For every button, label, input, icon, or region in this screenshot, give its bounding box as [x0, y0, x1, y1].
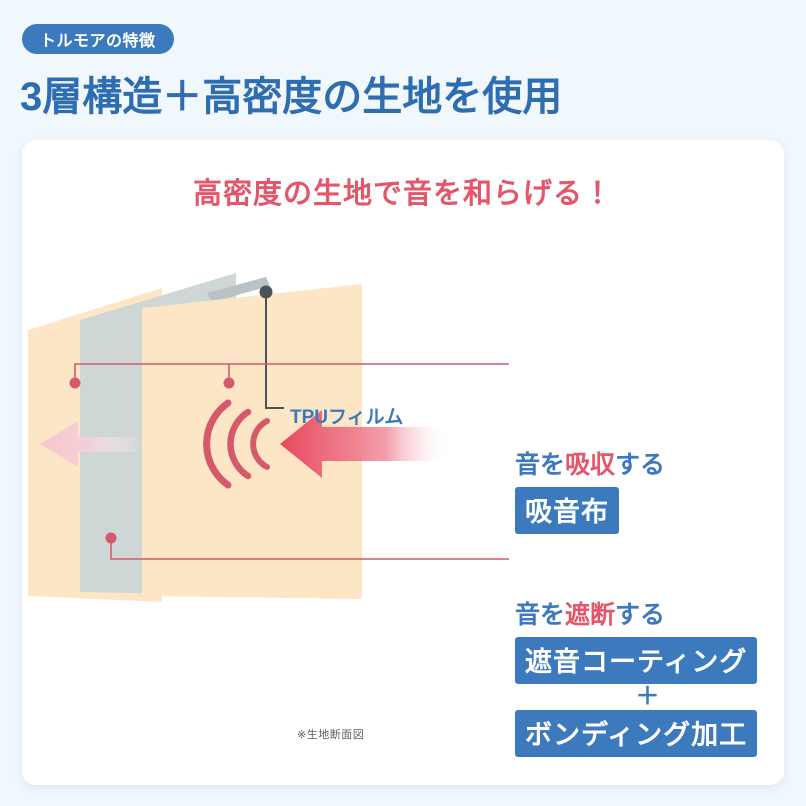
tpu-leader-dot: [260, 286, 273, 299]
callout-absorb-heading-suffix: する: [615, 451, 665, 479]
callout-absorb-heading-highlight: 吸収: [565, 451, 615, 479]
fabric-diagram: TPUフィルム ※生地断面図 音を吸収する 吸音布 音を遮断する 遮音コーティン…: [22, 140, 784, 785]
callout-absorb-chip-row: 吸音布: [515, 487, 665, 534]
callout-absorb-heading: 音を吸収する: [515, 445, 665, 481]
page-title: 3層構造＋高密度の生地を使用: [20, 64, 562, 122]
callout-absorb: 音を吸収する 吸音布: [515, 445, 665, 534]
callout-block-heading-highlight: 遮断: [565, 601, 615, 629]
callout-block: 音を遮断する 遮音コーティング ＋ ボンディング加工: [515, 595, 780, 757]
feature-badge: トルモアの特徴: [22, 24, 174, 54]
callout-block-heading-prefix: 音を: [515, 601, 565, 629]
block-leader-dot: [106, 533, 117, 544]
chip-soundproof-coating: 遮音コーティング: [515, 637, 757, 684]
cross-section-note: ※生地断面図: [297, 726, 364, 742]
callout-block-chip-row-1: 遮音コーティング: [515, 637, 780, 684]
chip-connector-plus: ＋: [515, 685, 780, 709]
callout-absorb-heading-prefix: 音を: [515, 451, 565, 479]
chip-bonding-process: ボンディング加工: [515, 710, 757, 757]
infographic-page: トルモアの特徴 3層構造＋高密度の生地を使用 高密度の生地で音を和らげる！: [0, 0, 806, 806]
chip-absorb-fabric: 吸音布: [515, 487, 619, 534]
callout-block-chip-row-2: ボンディング加工: [515, 710, 780, 757]
absorb-leader-dot-back: [70, 378, 81, 389]
callout-block-heading-suffix: する: [615, 601, 665, 629]
callout-block-heading: 音を遮断する: [515, 595, 780, 631]
tpu-film-label: TPUフィルム: [290, 402, 403, 429]
feature-card: 高密度の生地で音を和らげる！: [22, 140, 784, 785]
absorb-leader-dot-front: [224, 378, 235, 389]
